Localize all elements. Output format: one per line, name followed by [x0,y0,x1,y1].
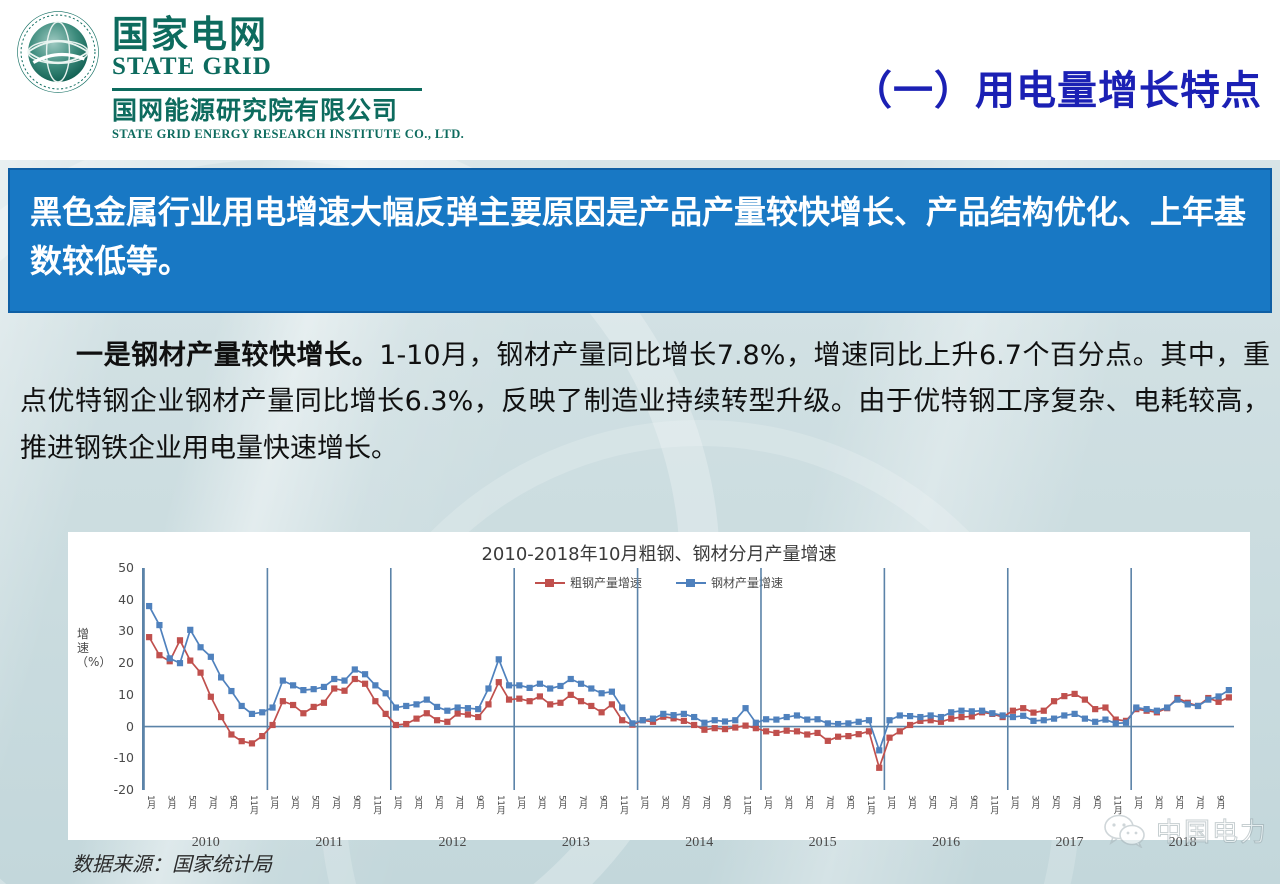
source-note: 数据来源：国家统计局 [72,848,272,877]
x-axis-month-label: 7月 [453,795,466,809]
x-axis-year-label: 2011 [267,835,390,851]
x-axis-month-label: 11月 [494,795,507,814]
x-axis-month-label: 9月 [226,795,239,809]
brand-name-en: STATE GRID [112,53,464,81]
y-axis-tick: -20 [100,782,134,797]
x-axis-month-label: 1月 [514,795,527,809]
x-axis-month-label: 5月 [1049,795,1062,809]
chart-card: 2010-2018年10月粗钢、钢材分月产量增速 粗钢产量增速 钢材产量增速 增… [68,532,1250,840]
brand-logo-group: 国家电网 STATE GRID 国网能源研究院有限公司 STATE GRID E… [14,8,464,142]
chart-plot-area [144,568,1234,790]
body-paragraph: 一是钢材产量较快增长。1-10月，钢材产量同比增长7.8%，增速同比上升6.7个… [20,333,1270,472]
x-axis-month-label: 5月 [432,795,445,809]
watermark: 中国电力 [1102,812,1268,849]
brand-text-block: 国家电网 STATE GRID 国网能源研究院有限公司 STATE GRID E… [112,8,464,142]
y-axis-tick: -10 [100,750,134,765]
x-axis-month-label: 11月 [864,795,877,814]
x-axis-month-label: 7月 [1070,795,1083,809]
y-axis-tick: 30 [100,623,134,638]
banner-text: 黑色金属行业用电增速大幅反弹主要原因是产品产量较快增长、产品结构优化、上年基数较… [30,188,1250,285]
brand-divider [112,88,422,91]
y-axis-tick: 40 [100,592,134,607]
body-lead-sentence: 一是钢材产量较快增长。 [76,340,379,371]
slide-root: 国家电网 STATE GRID 国网能源研究院有限公司 STATE GRID E… [0,0,1280,884]
key-message-banner: 黑色金属行业用电增速大幅反弹主要原因是产品产量较快增长、产品结构优化、上年基数较… [8,168,1272,313]
x-axis-year-label: 2015 [761,835,884,851]
x-axis-year-label: 2014 [638,835,761,851]
x-axis-month-label: 7月 [699,795,712,809]
x-axis-month-label: 7月 [329,795,342,809]
x-axis-month-label: 3月 [782,795,795,809]
x-axis-month-label: 11月 [741,795,754,814]
x-axis-month-label: 5月 [679,795,692,809]
y-axis-tick: 50 [100,560,134,575]
x-axis-month-label: 7月 [1193,795,1206,809]
x-axis-month-label: 1月 [144,795,157,809]
y-axis-label: 增速（%） [76,628,90,669]
x-axis-month-label: 1月 [1131,795,1144,809]
institute-name-cn: 国网能源研究院有限公司 [112,97,464,125]
x-axis-month-label: 1月 [391,795,404,809]
x-axis-year-label: 2013 [514,835,637,851]
x-axis-month-label: 5月 [926,795,939,809]
x-axis-month-label: 11月 [247,795,260,814]
x-axis-year-label: 2016 [884,835,1007,851]
x-axis-month-label: 5月 [802,795,815,809]
x-axis-month-label: 5月 [309,795,322,809]
x-axis-month-label: 9月 [843,795,856,809]
wechat-icon [1102,814,1148,848]
x-axis-month-label: 11月 [370,795,383,814]
x-axis-month-label: 1月 [761,795,774,809]
y-axis-tick: 0 [100,719,134,734]
chart-title: 2010-2018年10月粗钢、钢材分月产量增速 [68,540,1250,566]
x-axis-month-label: 9月 [350,795,363,809]
x-axis-month-label: 3月 [658,795,671,809]
state-grid-globe-emblem [14,8,102,96]
x-axis-month-label: 5月 [185,795,198,809]
y-axis-tick: 20 [100,655,134,670]
x-axis-month-label: 7月 [823,795,836,809]
slide-header: 国家电网 STATE GRID 国网能源研究院有限公司 STATE GRID E… [0,0,1280,160]
x-axis-month-label: 9月 [720,795,733,809]
x-axis-month-label: 9月 [967,795,980,809]
brand-name-cn: 国家电网 [112,16,464,55]
x-axis-month-label: 1月 [268,795,281,809]
x-axis-month-label: 3月 [412,795,425,809]
x-axis-month-label: 9月 [473,795,486,809]
x-axis-month-label: 5月 [1172,795,1185,809]
x-axis-month-label: 11月 [617,795,630,814]
x-axis-month-label: 7月 [946,795,959,809]
x-axis-month-label: 9月 [1214,795,1227,809]
institute-name-en: STATE GRID ENERGY RESEARCH INSTITUTE CO.… [112,127,464,142]
x-axis-year-label: 2012 [391,835,514,851]
x-axis-month-label: 3月 [288,795,301,809]
x-axis-month-label: 9月 [1090,795,1103,809]
x-axis-month-label: 9月 [597,795,610,809]
y-axis-tick: 10 [100,687,134,702]
x-axis-month-label: 3月 [905,795,918,809]
x-axis-month-label: 7月 [206,795,219,809]
x-axis-month-label: 1月 [638,795,651,809]
x-axis-month-label: 5月 [555,795,568,809]
x-axis-month-label: 3月 [165,795,178,809]
x-axis-month-label: 3月 [535,795,548,809]
x-axis-month-label: 11月 [987,795,1000,814]
page-title: （一）用电量增长特点 [852,58,1262,116]
x-axis-month-label: 7月 [576,795,589,809]
x-axis-month-label: 1月 [885,795,898,809]
x-axis-month-label: 1月 [1008,795,1021,809]
x-axis-month-label: 3月 [1028,795,1041,809]
x-axis-month-label: 3月 [1152,795,1165,809]
watermark-label: 中国电力 [1156,812,1268,849]
